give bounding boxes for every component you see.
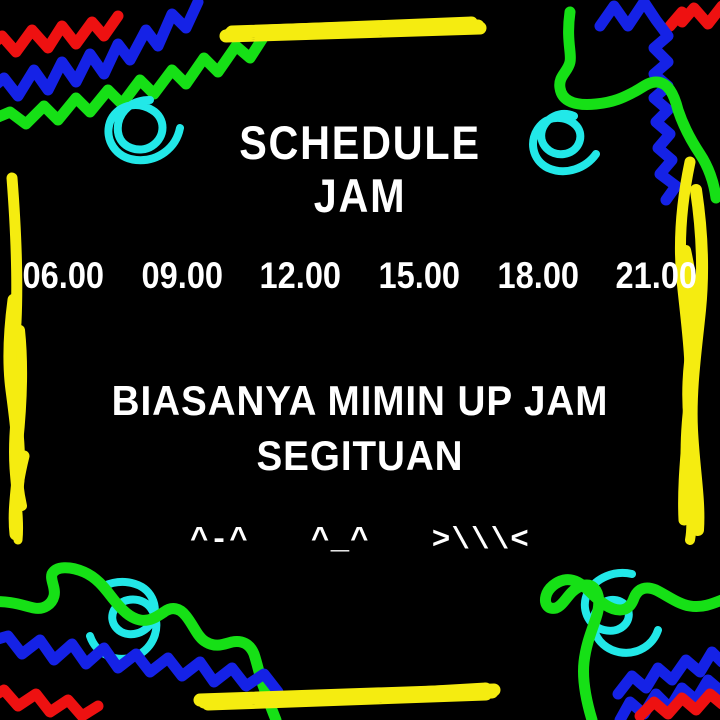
emoticons-row: ^-^ ^_^ >\\\< — [0, 523, 720, 558]
schedule-time-slot: 09.00 — [141, 255, 222, 297]
schedule-time-slot: 21.00 — [616, 255, 697, 297]
message-line-2: SEGITUAN — [29, 432, 691, 480]
emoticon-shy-slashes: >\\\< — [432, 523, 530, 558]
schedule-time-slot: 06.00 — [23, 255, 104, 297]
message-line-1: BIASANYA MIMIN UP JAM — [29, 377, 691, 425]
schedule-time-slot: 12.00 — [260, 255, 341, 297]
page-subtitle: JAM — [43, 168, 677, 223]
emoticon-happy-underscore: ^_^ — [311, 523, 370, 558]
schedule-time-slot: 15.00 — [379, 255, 460, 297]
schedule-time-slot: 18.00 — [497, 255, 578, 297]
emoticon-happy-dash: ^-^ — [190, 523, 249, 558]
poster-canvas: SCHEDULE JAM 06.00 09.00 12.00 15.00 18.… — [0, 0, 720, 720]
page-title: SCHEDULE — [43, 115, 677, 170]
schedule-times-row: 06.00 09.00 12.00 15.00 18.00 21.00 — [0, 255, 720, 297]
poster-content: SCHEDULE JAM 06.00 09.00 12.00 15.00 18.… — [0, 0, 720, 720]
